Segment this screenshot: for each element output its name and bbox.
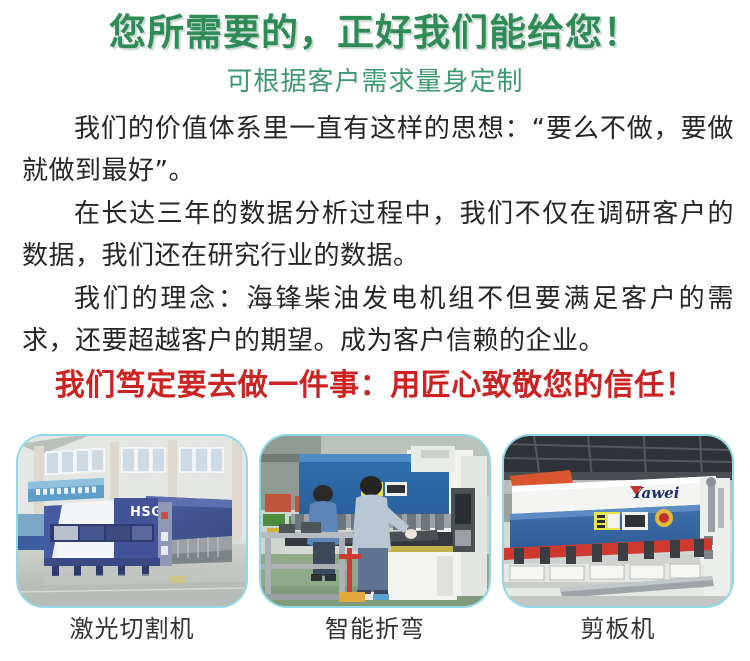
promo-page: 您所需要的，正好我们能给您！ 可根据客户需求量身定制 我们的价值体系里一直有这样…	[0, 0, 750, 661]
photo-press-brake-machine	[261, 436, 489, 606]
paragraph-concept: 我们的理念：海锋柴油发电机组不但要满足客户的需求，还要超越客户的期望。成为客户信…	[22, 278, 734, 362]
body-copy: 我们的价值体系里一直有这样的思想：“要么不做，要做就做到最好”。 在长达三年的数…	[22, 108, 734, 363]
svg-text:HSG: HSG	[130, 505, 162, 520]
photo-cell-shearing-machine: Yawei	[504, 436, 732, 606]
page-headline: 您所需要的，正好我们能给您！	[0, 10, 750, 56]
paragraph-values: 我们的价值体系里一直有这样的思想：“要么不做，要做就做到最好”。	[22, 108, 734, 192]
concept-lead: 我们的理念：	[74, 284, 247, 314]
photo-laser-cutting-machine: HSG	[18, 436, 246, 606]
caption-press-brake: 智能折弯	[261, 612, 489, 652]
paragraph-research: 在长达三年的数据分析过程中，我们不仅在调研客户的数据，我们还在研究行业的数据。	[22, 193, 734, 277]
shearing-machine-illustration: Yawei	[504, 436, 732, 606]
brand-name: 海锋	[247, 284, 305, 314]
photo-shearing-machine: Yawei	[504, 436, 732, 606]
press-brake-illustration	[261, 436, 489, 606]
page-subheadline: 可根据客户需求量身定制	[0, 66, 750, 98]
caption-shearing-machine: 剪板机	[504, 612, 732, 652]
laser-cutter-illustration: HSG	[18, 436, 246, 606]
photo-gallery: HSG	[0, 436, 750, 606]
caption-laser-cutter: 激光切割机	[18, 612, 246, 652]
photo-cell-laser-cutter: HSG	[18, 436, 246, 606]
photo-captions: 激光切割机 智能折弯 剪板机	[0, 612, 750, 652]
photo-cell-press-brake	[261, 436, 489, 606]
red-slogan: 我们笃定要去做一件事：用匠心致敬您的信任！	[0, 366, 750, 406]
